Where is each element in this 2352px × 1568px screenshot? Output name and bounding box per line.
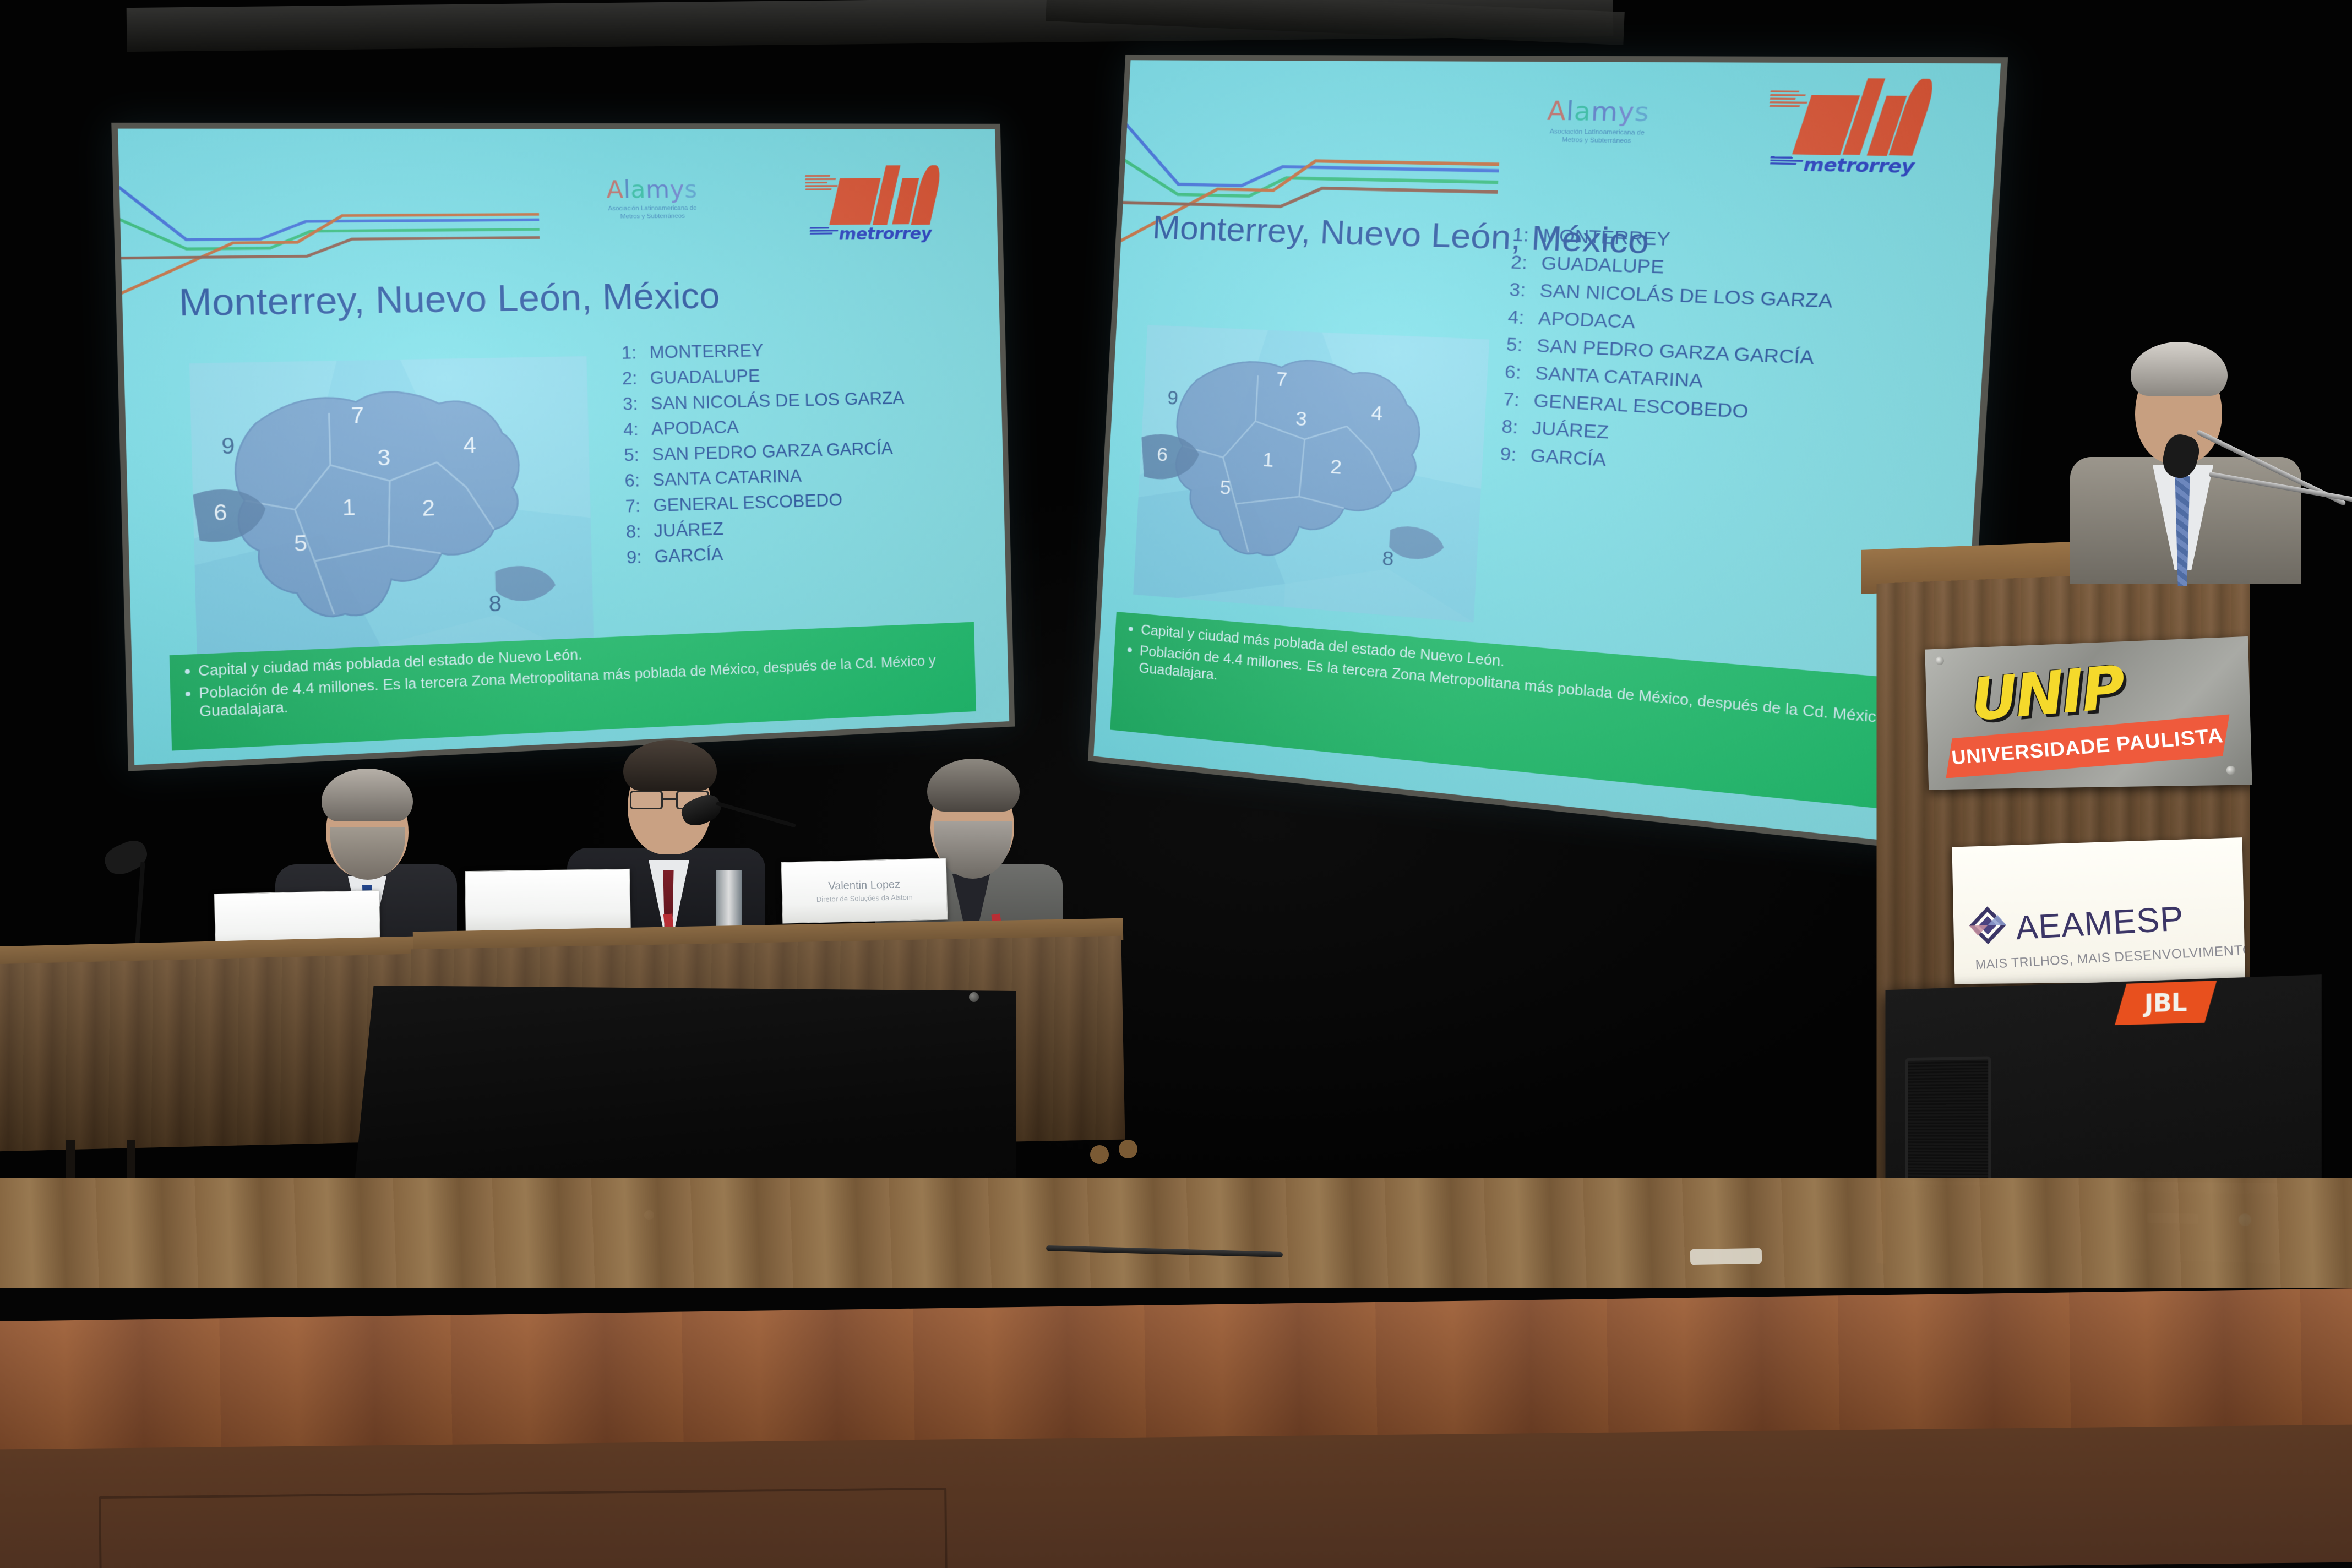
municipality-list: 1: MONTERREY 2: GUADALUPE 3: SAN NICOLÁS… [621, 337, 997, 568]
slide-left: Alamys Asociación Latinoamericana de Met… [118, 129, 1009, 765]
list-item-name: APODACA [1538, 308, 1636, 334]
alamys-logo: Alamys Asociación Latinoamericana de Met… [1492, 99, 1706, 146]
list-item: 1: MONTERREY [621, 337, 992, 364]
list-item-name: JUÁREZ [1532, 417, 1609, 443]
metrorrey-logo: metrorrey [1764, 78, 1961, 205]
svg-text:6: 6 [214, 500, 228, 526]
svg-text:9: 9 [1167, 386, 1179, 409]
standing-microphone-stand [134, 862, 145, 950]
list-item-number: 8: [1501, 416, 1533, 439]
svg-text:4: 4 [463, 433, 477, 458]
monterrey-map: 1 2 3 4 5 6 7 9 8 [1131, 285, 1492, 664]
stage-base-panel [99, 1488, 948, 1568]
list-item-number: 2: [622, 368, 651, 389]
list-item-number: 3: [1509, 279, 1540, 302]
svg-text:4: 4 [1370, 402, 1383, 425]
table-caster [1119, 1140, 1137, 1158]
list-item-number: 4: [1507, 307, 1539, 329]
metrorrey-hatch-blue [810, 227, 842, 242]
screw-icon [969, 992, 979, 1002]
speaker-hair [2131, 342, 2228, 396]
alamys-subtitle-line2: Metros y Subterráneos [1492, 137, 1704, 146]
list-item-name: APODACA [651, 417, 739, 440]
panelist-1-hair [322, 769, 413, 821]
screw-icon [2226, 766, 2235, 775]
projection-screen-left: Alamys Asociación Latinoamericana de Met… [111, 123, 1015, 771]
list-item-name: GUADALUPE [650, 366, 760, 389]
svg-text:2: 2 [422, 496, 435, 521]
list-item-number: 4: [623, 419, 652, 440]
list-item-number: 5: [1506, 334, 1537, 357]
bullet-icon [184, 669, 189, 674]
list-item-name: GARCÍA [1530, 445, 1607, 471]
svg-text:3: 3 [377, 445, 391, 471]
metrorrey-hatch-orange [805, 175, 842, 221]
svg-text:9: 9 [221, 434, 236, 459]
jbl-logo: JBL [2115, 981, 2217, 1025]
list-item: 2: GUADALUPE [622, 362, 993, 389]
list-item-name: SAN PEDRO GARZA GARCÍA [652, 439, 893, 465]
svg-text:1: 1 [1262, 448, 1274, 471]
auditorium-stage-photo: Alamys Asociación Latinoamericana de Met… [0, 0, 2352, 1568]
alamys-subtitle-line1: Asociación Latinoamericana de [1493, 128, 1705, 138]
panelist-3-hair [927, 759, 1020, 812]
aeamesp-tagline: MAIS TRILHOS, MAIS DESENVOLVIMENTO. [1975, 942, 2245, 973]
slide-title: Monterrey, Nuevo León, México [178, 275, 720, 324]
screw-icon [1935, 656, 1944, 665]
list-item-name: SANTA CATARINA [652, 466, 802, 491]
list-item: 5: SAN PEDRO GARZA GARCÍA [624, 436, 995, 466]
list-item-number: 6: [624, 470, 653, 492]
list-item-number: 9: [1500, 443, 1531, 466]
list-item-number: 1: [1512, 224, 1543, 247]
aeamesp-logo-row: AEAMESP [1968, 901, 2184, 945]
microphone-boom [716, 801, 796, 827]
bullet-icon [1129, 627, 1133, 631]
metrorrey-hatch-orange [1767, 90, 1811, 150]
list-item-number: 1: [621, 342, 650, 363]
list-item-name: SANTA CATARINA [1534, 363, 1703, 393]
aeamesp-wordmark: AEAMESP [2015, 899, 2185, 948]
list-item-name: SAN NICOLÁS DE LOS GARZA [650, 388, 904, 414]
metrorrey-wordmark: metrorrey [839, 224, 932, 244]
metrorrey-wordmark: metrorrey [1803, 154, 1914, 177]
list-item-number: 2: [1510, 252, 1542, 274]
svg-text:2: 2 [1330, 455, 1342, 478]
monterrey-map: 1 2 3 4 5 6 7 9 8 [189, 350, 595, 685]
svg-text:5: 5 [1219, 476, 1231, 499]
list-item: 4: APODACA [623, 411, 994, 440]
bullet-icon [185, 691, 190, 696]
svg-text:7: 7 [1276, 368, 1288, 390]
municipality-list: 1: MONTERREY 2: GUADALUPE 3: SAN NICOLÁS… [1500, 224, 1990, 493]
list-item-name: GARCÍA [654, 545, 723, 567]
list-item-number: 5: [624, 445, 652, 466]
svg-text:3: 3 [1295, 407, 1308, 431]
alamys-subtitle-line2: Metros y Subterráneos [557, 213, 747, 221]
bullet-icon [1128, 647, 1132, 652]
name-card-name: Valentin Lopez [828, 878, 900, 892]
list-item: 3: SAN NICOLÁS DE LOS GARZA [623, 386, 994, 415]
list-item-number: 6: [1504, 361, 1536, 384]
aeamesp-plaque: AEAMESP MAIS TRILHOS, MAIS DESENVOLVIMEN… [1952, 837, 2245, 984]
list-item-name: JUÁREZ [654, 519, 723, 542]
metrorrey-hatch-blue [1770, 156, 1807, 177]
list-item-number: 8: [626, 521, 655, 543]
table-caster [1090, 1145, 1109, 1164]
unip-plaque: UNIP UNIVERSIDADE PAULISTA [1925, 636, 2252, 790]
svg-text:8: 8 [1381, 547, 1394, 570]
list-item-name: MONTERREY [1542, 225, 1670, 251]
svg-text:1: 1 [342, 495, 356, 520]
list-item-name: GUADALUPE [1541, 253, 1665, 279]
name-card-3: Valentin Lopez Diretor de Soluções da Al… [781, 858, 948, 923]
list-item-number: 7: [625, 496, 654, 517]
metrorrey-logo: metrorrey [805, 165, 965, 262]
jbl-wordmark: JBL [2144, 988, 2187, 1018]
name-card-2 [465, 869, 631, 933]
alamys-subtitle-line1: Asociación Latinoamericana de [557, 205, 747, 213]
panelist-2-hair [623, 740, 717, 791]
list-item-number: 7: [1502, 389, 1534, 412]
list-item-name: SAN NICOLÁS DE LOS GARZA [1539, 280, 1833, 313]
list-item-number: 9: [627, 547, 655, 568]
svg-text:6: 6 [1156, 443, 1168, 466]
name-card-role: Diretor de Soluções da Alstom [816, 893, 913, 903]
water-glass [716, 870, 742, 930]
svg-text:8: 8 [489, 592, 502, 617]
list-item-number: 3: [623, 394, 651, 415]
svg-text:7: 7 [351, 403, 364, 428]
list-item-name: GENERAL ESCOBEDO [653, 490, 842, 516]
speaker-grille [1905, 1056, 1991, 1185]
unip-wordmark: UNIP [1969, 653, 2126, 734]
list-item-name: MONTERREY [649, 341, 764, 363]
alamys-logo: Alamys Asociación Latinoamericana de Met… [556, 177, 747, 220]
aeamesp-diamond-icon [1968, 905, 2007, 946]
list-item-name: GENERAL ESCOBEDO [1533, 390, 1749, 423]
svg-text:5: 5 [294, 531, 308, 557]
